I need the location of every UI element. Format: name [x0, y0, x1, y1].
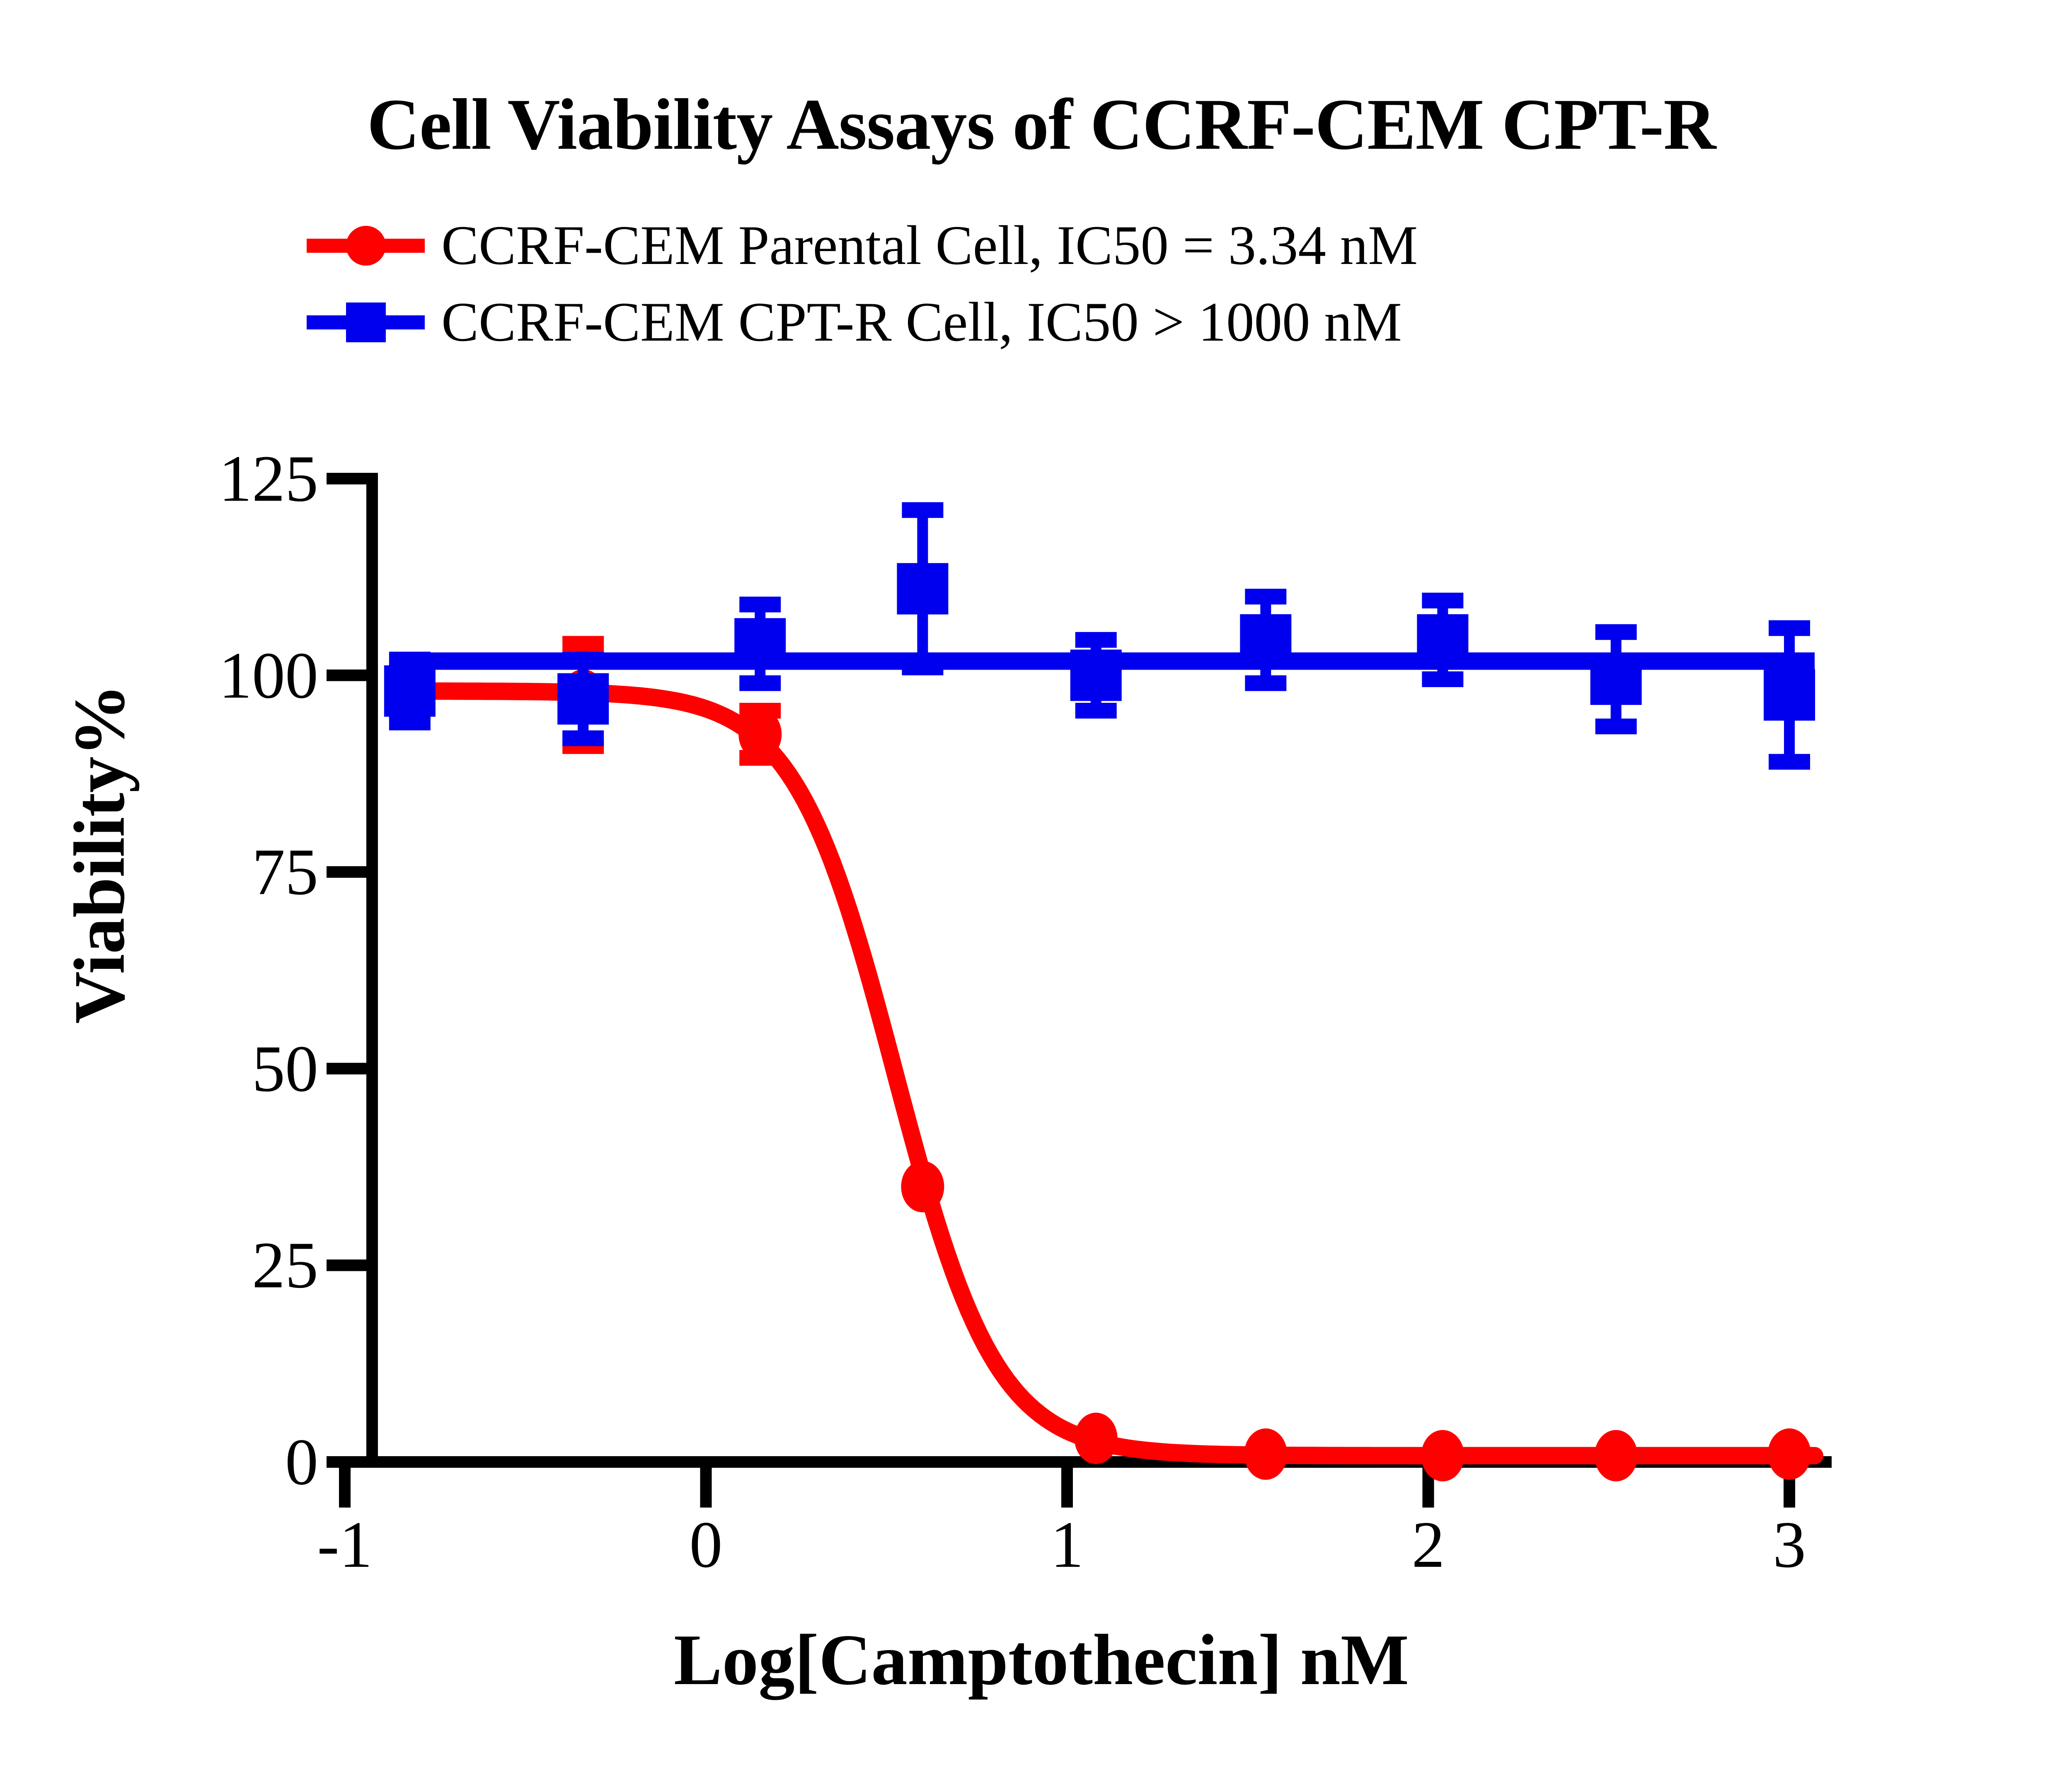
- fit-curve-parental: [395, 691, 1815, 1456]
- x-axis-title: Log[Camptothecin] nM: [0, 1618, 2072, 1701]
- data-point-circle: [1421, 1430, 1464, 1481]
- plot-area: 0255075100125 -10123 Viability% Log[Camp…: [0, 0, 2072, 1791]
- data-point-square: [897, 563, 948, 615]
- y-tick-label: 25: [20, 1227, 318, 1304]
- data-point-square: [557, 673, 609, 725]
- x-tick-label: -1: [317, 1506, 372, 1583]
- series-parental: [388, 644, 1811, 1481]
- chart-page: Cell Viability Assays of CCRF-CEM CPT-R …: [0, 0, 2072, 1791]
- y-tick-label: 125: [20, 440, 318, 517]
- data-point-circle: [1244, 1428, 1287, 1480]
- y-axis-title: Viability%: [58, 605, 141, 1103]
- data-point-square: [1590, 653, 1642, 705]
- data-point-square: [734, 618, 786, 670]
- data-point-square: [1070, 650, 1122, 701]
- x-tick-label: 3: [1773, 1506, 1806, 1583]
- x-tick-label: 1: [1051, 1506, 1084, 1583]
- data-point-circle: [1075, 1413, 1118, 1464]
- data-point-square: [384, 666, 436, 717]
- y-tick-label: 0: [20, 1424, 318, 1501]
- x-tick-label: 2: [1412, 1506, 1445, 1583]
- data-point-square: [1764, 669, 1815, 721]
- data-point-circle: [738, 709, 782, 760]
- data-point-square: [1417, 614, 1468, 666]
- x-tick-label: 0: [690, 1506, 723, 1583]
- data-point-circle: [901, 1161, 944, 1213]
- data-point-circle: [1768, 1428, 1811, 1480]
- data-point-circle: [1595, 1430, 1638, 1481]
- data-point-square: [1240, 614, 1291, 666]
